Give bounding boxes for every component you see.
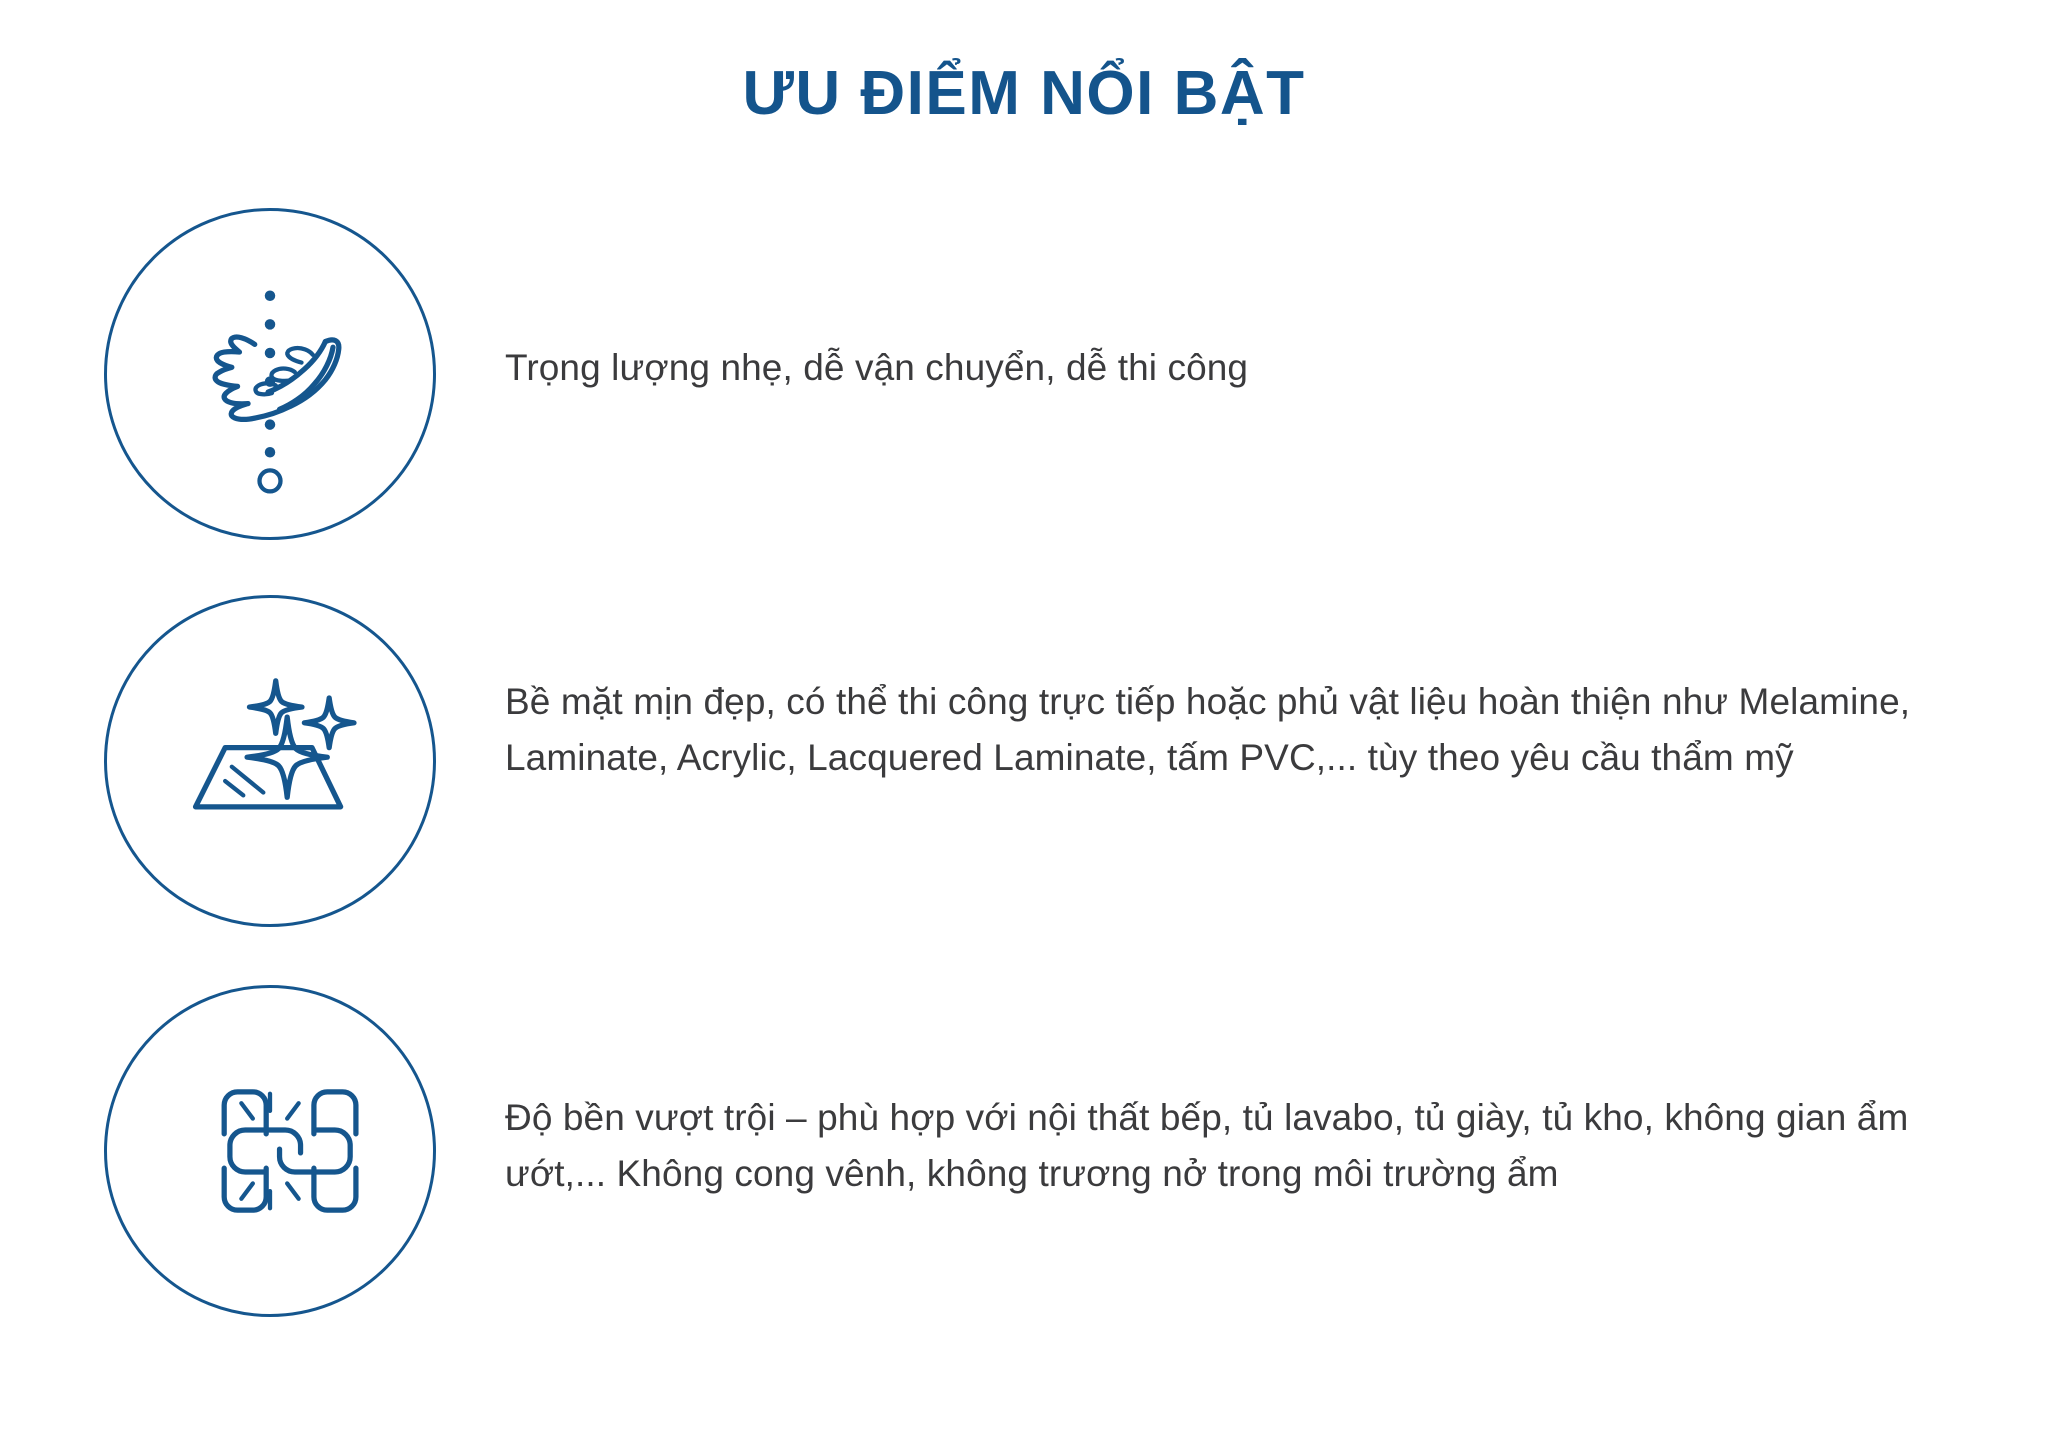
feature-text-1: Trọng lượng nhẹ, dễ vận chuyển, dễ thi c…: [505, 340, 1930, 396]
feature-text-3: Độ bền vượt trội – phù hợp với nội thất …: [505, 1090, 1930, 1202]
feature-item-3: Độ bền vượt trội – phù hợp với nội thất …: [0, 985, 2048, 1325]
page-title: ƯU ĐIỂM NỔI BẬT: [0, 58, 2048, 129]
feature-text-2: Bề mặt mịn đẹp, có thể thi công trực tiế…: [505, 674, 1930, 786]
icon-circle-1: [104, 208, 436, 540]
feather-floating-icon: [165, 269, 375, 479]
feature-item-2: Bề mặt mịn đẹp, có thể thi công trực tiế…: [0, 595, 2048, 935]
feature-item-1: Trọng lượng nhẹ, dễ vận chuyển, dễ thi c…: [0, 208, 2048, 548]
advantages-infographic: ƯU ĐIỂM NỔI BẬT: [0, 0, 2048, 1445]
glossy-panel-sparkle-icon: [165, 656, 375, 866]
icon-circle-3: [104, 985, 436, 1317]
icon-circle-2: [104, 595, 436, 927]
chain-link-strength-icon: [165, 1046, 375, 1256]
